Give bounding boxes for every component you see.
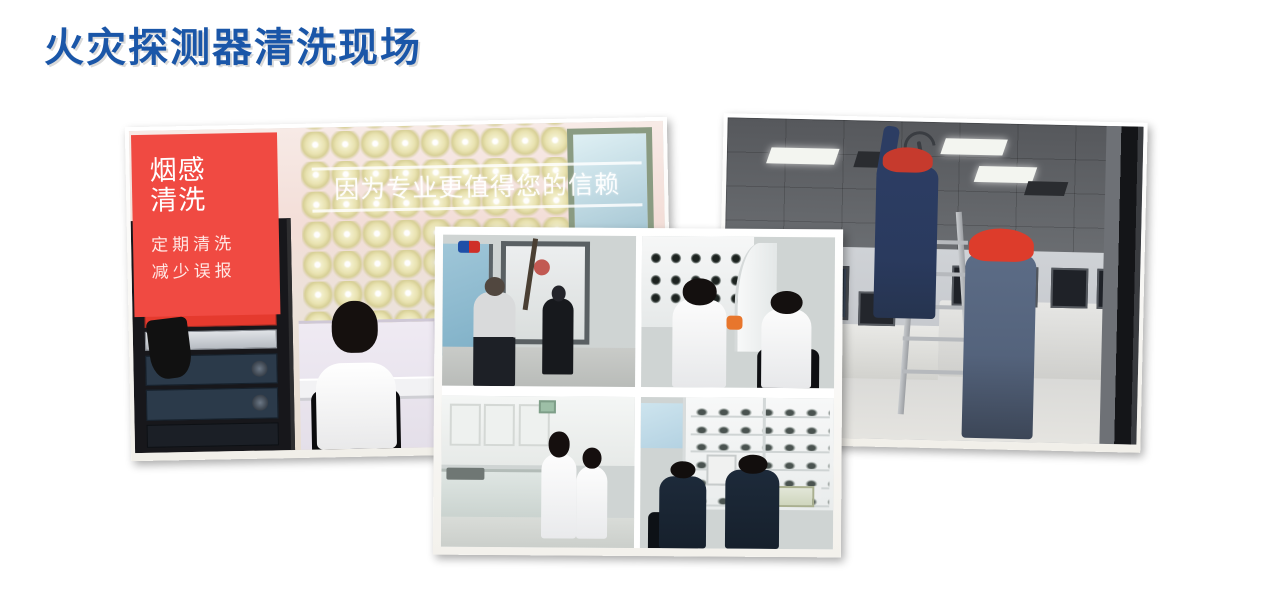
sink-icon [446, 467, 484, 480]
shelf-row [690, 440, 829, 454]
door-jamb [1099, 126, 1144, 445]
page-title: 火灾探测器清洗现场 [44, 26, 422, 70]
promo-headline: 烟感 清洗 [149, 154, 278, 217]
head [331, 300, 378, 353]
collage-cell-microscope-bench[interactable] [641, 236, 835, 388]
photo-collage-stage: 因为专业更值得您的信赖 烟感 清洗 定期清洗 减少误报 [0, 100, 1280, 580]
promo-sub-line1: 定期清洗 [151, 231, 279, 260]
rack-instrument-3 [147, 423, 279, 449]
lab-technician-assisting [576, 466, 607, 539]
window-light [641, 403, 684, 449]
tool-handle-icon [726, 315, 742, 329]
slogan-band: 因为专业更值得您的信赖 [306, 161, 649, 212]
wall-box-icon [538, 400, 555, 413]
monitor-icon [1051, 268, 1088, 308]
shelf-row [691, 422, 830, 436]
collage-cell-storage-shelf-testing[interactable] [640, 397, 834, 549]
ceiling-light-icon [941, 138, 1009, 155]
person-inspector [473, 292, 516, 386]
rack-knob-1 [252, 360, 268, 376]
badge-icon [458, 241, 480, 253]
detector-tray-row [646, 252, 749, 265]
lab-coat [315, 362, 397, 449]
operator-right [725, 470, 780, 549]
cabinet-door [484, 404, 515, 446]
operator-left [659, 476, 706, 549]
wall-seal-icon [534, 259, 550, 275]
worker-on-ladder [873, 165, 939, 319]
ceiling-light-icon [766, 148, 840, 165]
floor [442, 346, 635, 387]
worker-ground-assistant [962, 253, 1037, 439]
promo-headline-line2: 清洗 [150, 185, 279, 218]
ladder-rung [902, 369, 965, 374]
lab-technician-front [672, 300, 727, 388]
collage-cell-ultrasonic-wash-bench[interactable] [441, 396, 635, 548]
hard-hat-icon [883, 147, 933, 173]
ladder-rung [903, 337, 966, 342]
collage-grid [441, 235, 835, 550]
lab-technician-back [761, 309, 812, 388]
upper-wall [441, 396, 634, 467]
promo-headline-line1: 烟感 [149, 154, 278, 187]
slogan-text: 因为专业更值得您的信赖 [306, 164, 648, 209]
person-visitor [542, 299, 573, 375]
technician-left [314, 300, 397, 450]
promo-sub-line2: 减少误报 [151, 257, 279, 286]
collage-cell-entrance-inspection[interactable] [442, 235, 636, 387]
promo-subtext: 定期清洗 减少误报 [151, 231, 280, 286]
lab-technician-washing [541, 454, 576, 539]
promo-block[interactable]: 烟感 清洗 定期清洗 减少误报 [131, 132, 280, 317]
ceiling-vent-icon [1024, 182, 1068, 197]
shelf-row [691, 404, 830, 418]
cabinet-door [449, 404, 480, 446]
photo-service-process-collage[interactable] [433, 227, 843, 558]
